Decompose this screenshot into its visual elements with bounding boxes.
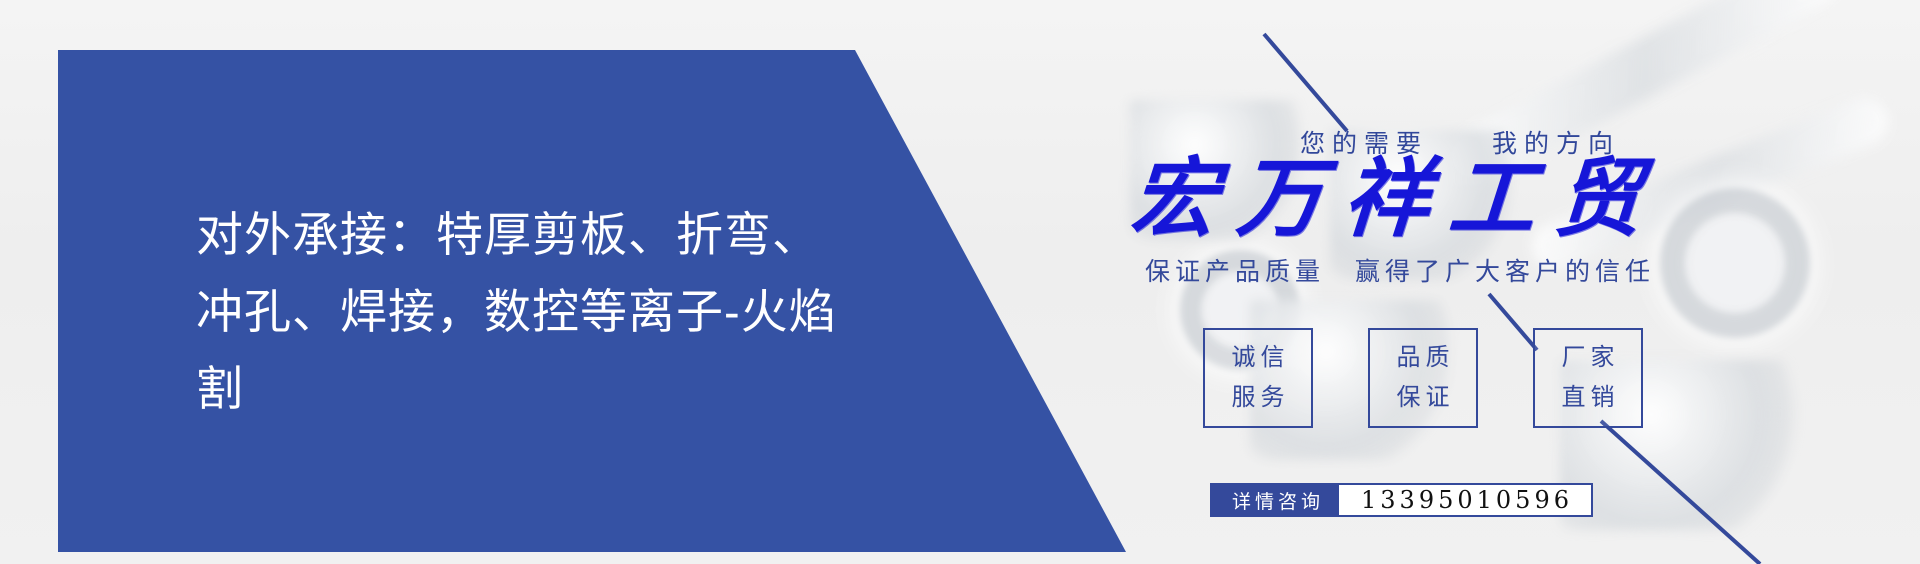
feature-box-line1: 品质 [1392,338,1455,378]
feature-box-row: 诚信 服务 品质 保证 厂家 直销 [1203,328,1643,428]
sub-tagline: 保证产品质量 赢得了广大客户的信任 [1080,252,1720,288]
feature-box-integrity-service[interactable]: 诚信 服务 [1203,328,1313,428]
feature-box-factory-direct[interactable]: 厂家 直销 [1533,328,1643,428]
feature-box-quality-guarantee[interactable]: 品质 保证 [1368,328,1478,428]
left-panel-headline: 对外承接：特厚剪板、折弯、冲孔、焊接，数控等离子-火焰割 [196,196,856,427]
feature-box-line1: 诚信 [1227,338,1290,378]
contact-label: 详情咨询 [1212,485,1339,515]
feature-box-line2: 直销 [1557,378,1620,418]
contact-phone-number[interactable]: 13395010596 [1339,485,1591,515]
feature-box-line2: 服务 [1227,378,1290,418]
promo-banner: 对外承接：特厚剪板、折弯、冲孔、焊接，数控等离子-火焰割 您的需要 我的方向 宏… [0,0,1920,564]
brand-logo-area: 您的需要 我的方向 宏万祥工贸 保证产品质量 赢得了广大客户的信任 诚信 服务 … [1060,0,1920,564]
contact-bar[interactable]: 详情咨询 13395010596 [1210,483,1593,517]
brand-name: 宏万祥工贸 [1083,153,1709,245]
feature-box-line1: 厂家 [1557,338,1620,378]
feature-box-line2: 保证 [1392,378,1455,418]
